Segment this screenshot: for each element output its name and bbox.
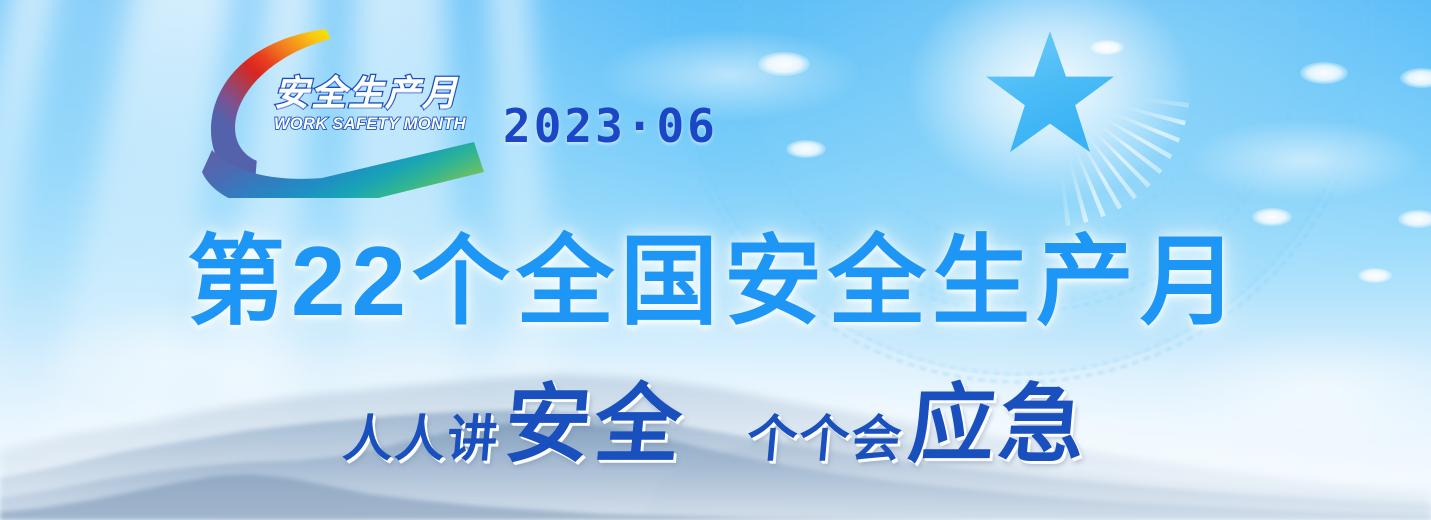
- white-cloud-puffs-icon: [1300, 62, 1348, 84]
- five-pointed-star-icon: [982, 28, 1118, 158]
- slogan-right-small: 个个会: [744, 414, 905, 468]
- radial-sunburst-rays-icon: [905, 0, 1195, 232]
- cloud-wisp: [1190, 120, 1420, 200]
- slogan-right-large: 应急: [905, 382, 1093, 468]
- page-title: 第22个全国安全生产月: [0, 232, 1431, 330]
- work-safety-month-logo: 安全生产月 WORK SAFETY MONTH: [196, 28, 496, 198]
- campaign-date: 2023·06: [503, 103, 718, 149]
- logo-wordmark: 安全生产月 WORK SAFETY MONTH: [274, 76, 484, 133]
- slogan-right: 个个会 应急: [747, 382, 1089, 468]
- logo-chinese-name: 安全生产月: [274, 76, 484, 111]
- white-cloud-puffs-icon: [1398, 210, 1431, 228]
- campaign-slogan: 人人讲 安全 个个会 应急: [0, 382, 1431, 468]
- work-safety-month-banner: 安全生产月 WORK SAFETY MONTH 2023·06 第22个全国安全…: [0, 0, 1431, 520]
- star-glow: [905, 0, 1195, 202]
- slogan-left-large: 安全: [501, 382, 689, 468]
- slogan-left-small: 人人讲: [340, 414, 501, 468]
- white-cloud-puffs-icon: [758, 52, 810, 76]
- star-emblem: [905, 0, 1195, 232]
- white-cloud-puffs-icon: [1090, 40, 1124, 55]
- logo-english-name: WORK SAFETY MONTH: [274, 116, 484, 133]
- white-cloud-puffs-icon: [1400, 68, 1431, 88]
- white-cloud-puffs-icon: [786, 140, 826, 158]
- slogan-left: 人人讲 安全: [343, 382, 685, 468]
- white-cloud-puffs-icon: [1252, 208, 1292, 226]
